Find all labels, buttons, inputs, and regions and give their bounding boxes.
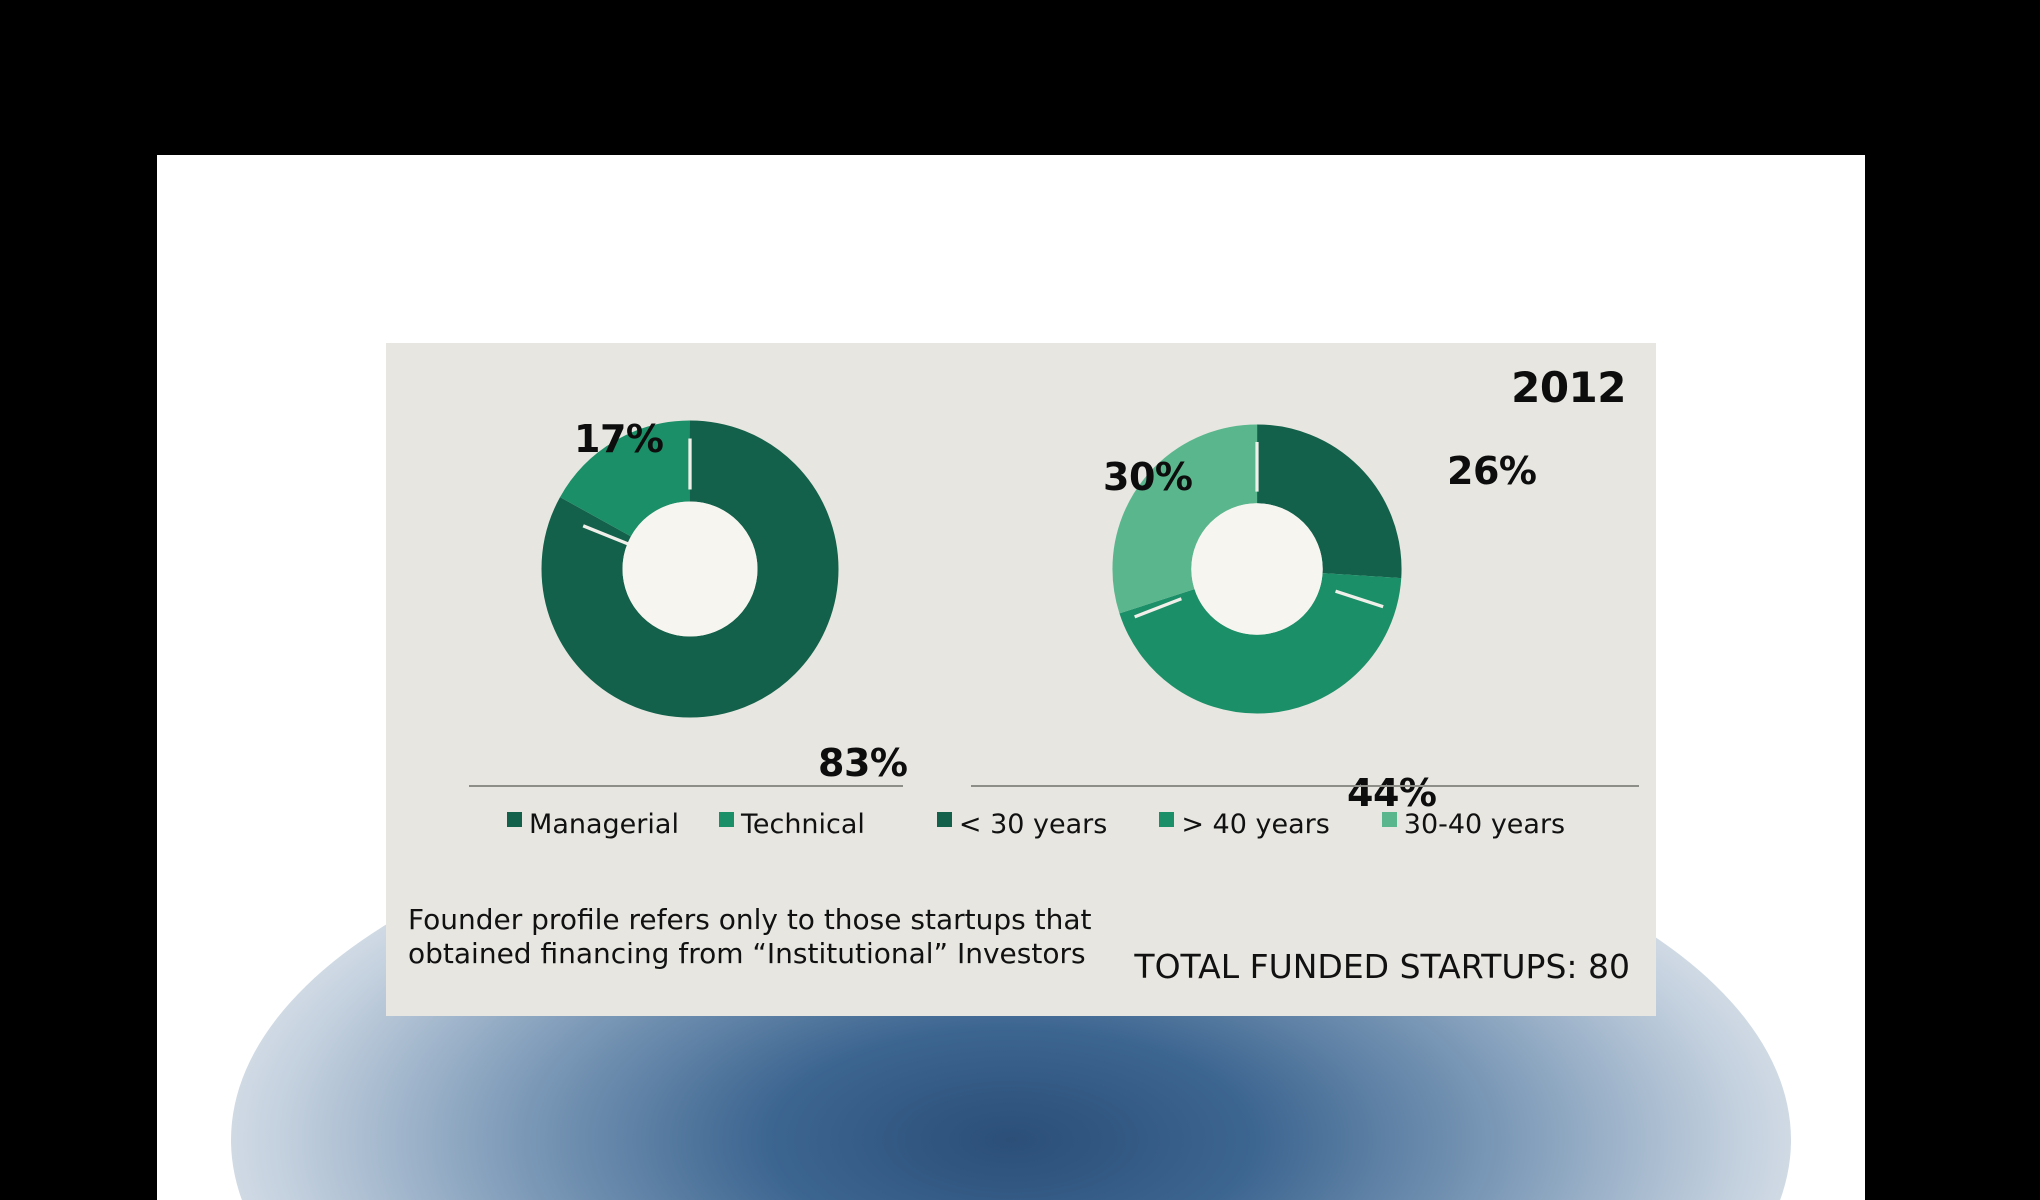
presentation-slide: 2012 17% 83% bbox=[157, 155, 1865, 1200]
legend-item-under-30[interactable]: < 30 years bbox=[937, 809, 1107, 840]
donut-hole bbox=[623, 502, 758, 637]
chart-panel: 2012 17% 83% bbox=[386, 343, 1656, 1016]
legend-divider bbox=[971, 785, 1639, 787]
donut-hole bbox=[1191, 503, 1322, 634]
value-label-technical: 17% bbox=[574, 417, 663, 461]
legend-label: > 40 years bbox=[1181, 809, 1329, 840]
footnote: Founder profile refers only to those sta… bbox=[408, 903, 1091, 971]
legend-label: Technical bbox=[741, 809, 865, 840]
chart-founder-age: 26% 44% 30% < 30 years > 40 years bbox=[971, 405, 1531, 865]
donut-chart-founder-role: 17% 83% bbox=[540, 419, 840, 719]
legend-item-over-40[interactable]: > 40 years bbox=[1159, 809, 1329, 840]
value-label-under-30: 26% bbox=[1447, 449, 1536, 493]
legend-swatch-icon bbox=[937, 812, 952, 827]
legend-item-managerial[interactable]: Managerial bbox=[507, 809, 679, 840]
donut-svg-founder-role bbox=[540, 419, 840, 719]
legend-item-30-40[interactable]: 30-40 years bbox=[1382, 809, 1565, 840]
footnote-line-1: Founder profile refers only to those sta… bbox=[408, 903, 1091, 937]
legend-swatch-icon bbox=[1159, 812, 1174, 827]
total-funded-startups-label: TOTAL FUNDED STARTUPS: 80 bbox=[1134, 947, 1630, 986]
screenshot-canvas: 2012 17% 83% bbox=[0, 0, 2040, 1200]
legend-label: 30-40 years bbox=[1404, 809, 1565, 840]
legend-divider bbox=[469, 785, 903, 787]
value-label-30-40: 30% bbox=[1103, 455, 1192, 499]
donut-chart-founder-age: 26% 44% 30% bbox=[1111, 423, 1403, 715]
legend-founder-role: Managerial Technical bbox=[406, 785, 966, 840]
legend-founder-age: < 30 years > 40 years 30-40 years bbox=[971, 785, 1531, 840]
footnote-line-2: obtained financing from “Institutional” … bbox=[408, 937, 1091, 971]
chart-founder-role: 17% 83% Managerial Technical bbox=[406, 405, 966, 865]
legend-item-technical[interactable]: Technical bbox=[719, 809, 865, 840]
legend-swatch-icon bbox=[507, 812, 522, 827]
legend-label: Managerial bbox=[529, 809, 679, 840]
legend-swatch-icon bbox=[1382, 812, 1397, 827]
legend-swatch-icon bbox=[719, 812, 734, 827]
value-label-managerial: 83% bbox=[818, 741, 907, 785]
legend-label: < 30 years bbox=[959, 809, 1107, 840]
